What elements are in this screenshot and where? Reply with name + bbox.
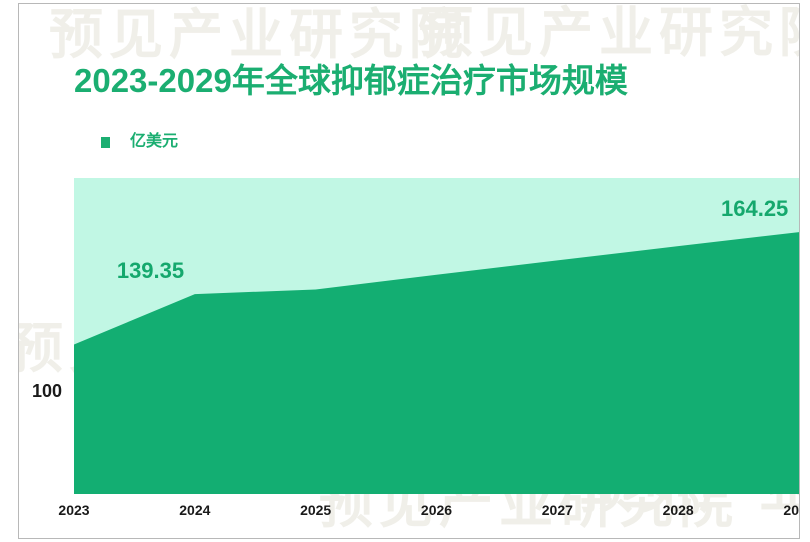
x-axis-tick-label: 2023 — [58, 502, 89, 518]
x-axis-tick-label: 2024 — [179, 502, 210, 518]
x-axis-tick-label: 2027 — [542, 502, 573, 518]
chart-title: 2023-2029年全球抑郁症治疗市场规模 — [74, 54, 628, 102]
plot-area — [74, 178, 799, 494]
data-point-label: 164.25 — [721, 196, 788, 222]
legend-item-label: 亿美元 — [130, 134, 178, 150]
x-axis-tick-label: 2028 — [663, 502, 694, 518]
legend-square-marker — [101, 137, 110, 148]
area-chart-svg — [74, 178, 799, 494]
y-axis-tick-label: 100 — [19, 381, 62, 402]
chart-legend: 亿美元 — [101, 134, 178, 150]
x-axis-tick-label: 2025 — [300, 502, 331, 518]
chart-card: 预见产业研究院 预见产业研究院 预见产业研究院 预见产业研究院 预见产业研究院 … — [18, 3, 800, 539]
data-point-label: 139.35 — [117, 258, 184, 284]
x-axis-tick-label: 2026 — [421, 502, 452, 518]
x-axis-tick-label: 2029 — [783, 502, 800, 518]
